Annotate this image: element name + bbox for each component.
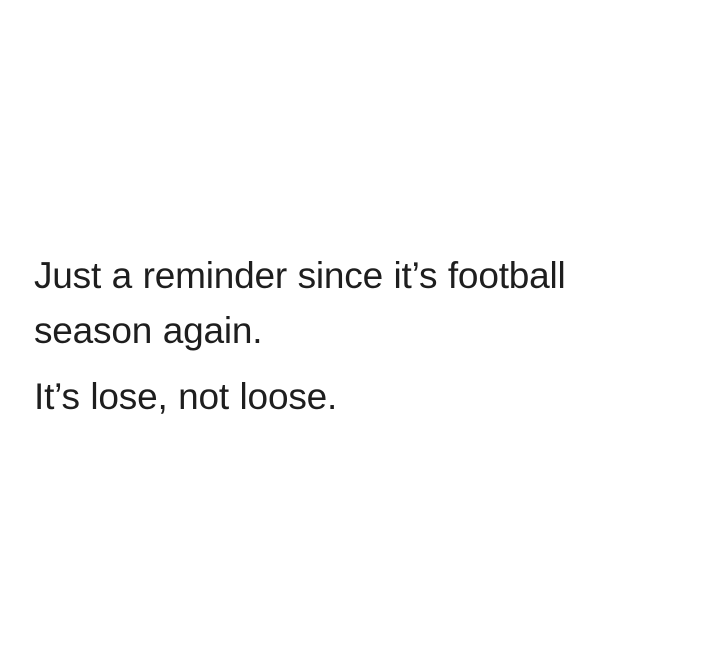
screenshot-canvas: Just a reminder since it’s football seas… (0, 0, 719, 645)
post-paragraph-2: It’s lose, not loose. (34, 369, 644, 424)
post-paragraph-1: Just a reminder since it’s football seas… (34, 248, 644, 358)
post-text-block: Just a reminder since it’s football seas… (34, 248, 644, 424)
